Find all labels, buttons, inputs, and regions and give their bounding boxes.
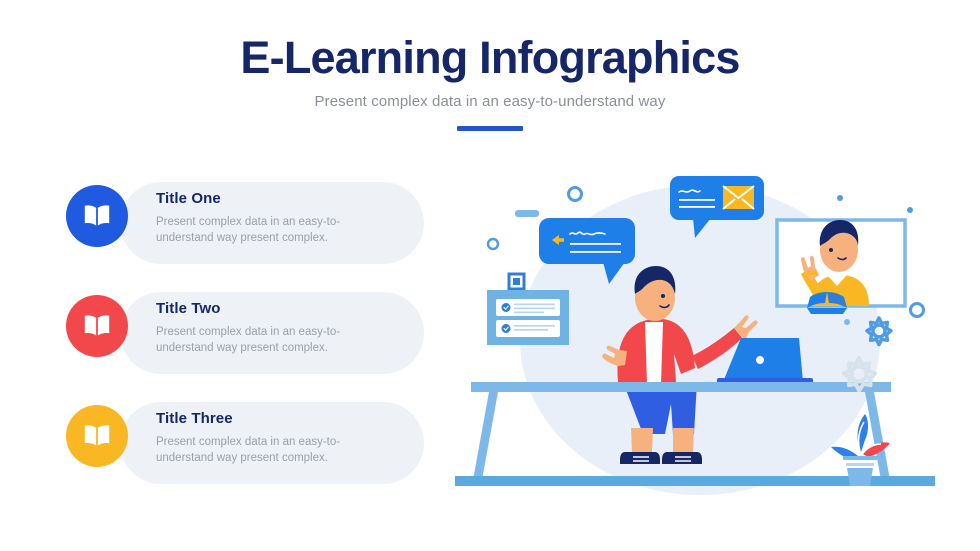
open-book-icon: [66, 185, 128, 247]
page-header: E-Learning Infographics Present complex …: [0, 0, 980, 131]
open-book-icon: [66, 405, 128, 467]
decorative-ring: [569, 188, 582, 201]
checklist-panel: [487, 290, 569, 345]
page-subtitle: Present complex data in an easy-to-under…: [0, 93, 980, 110]
card-title: Title One: [156, 190, 406, 207]
feature-card[interactable]: Title Two Present complex data in an eas…: [66, 292, 436, 374]
card-text: Title One Present complex data in an eas…: [156, 190, 406, 247]
e-learning-illustration: [455, 170, 935, 510]
card-text: Title Two Present complex data in an eas…: [156, 300, 406, 357]
feature-card[interactable]: Title One Present complex data in an eas…: [66, 182, 436, 264]
title-divider: [457, 126, 523, 131]
open-book-icon: [66, 295, 128, 357]
card-title: Title Two: [156, 300, 406, 317]
feature-card[interactable]: Title Three Present complex data in an e…: [66, 402, 436, 484]
card-description: Present complex data in an easy-to-under…: [156, 214, 371, 247]
card-description: Present complex data in an easy-to-under…: [156, 434, 371, 467]
decorative-ring: [911, 304, 924, 317]
decorative-square-fill: [513, 278, 520, 285]
decorative-dash: [515, 210, 539, 217]
decorative-dot: [907, 207, 913, 213]
decorative-dot: [844, 319, 850, 325]
page-title: E-Learning Infographics: [0, 34, 980, 81]
card-text: Title Three Present complex data in an e…: [156, 410, 406, 467]
feature-card-list: Title One Present complex data in an eas…: [66, 182, 436, 512]
video-call-frame: [777, 220, 905, 314]
decorative-dot: [837, 195, 843, 201]
decorative-ring: [488, 239, 498, 249]
card-description: Present complex data in an easy-to-under…: [156, 324, 371, 357]
card-title: Title Three: [156, 410, 406, 427]
page-content: Title One Present complex data in an eas…: [0, 170, 980, 551]
